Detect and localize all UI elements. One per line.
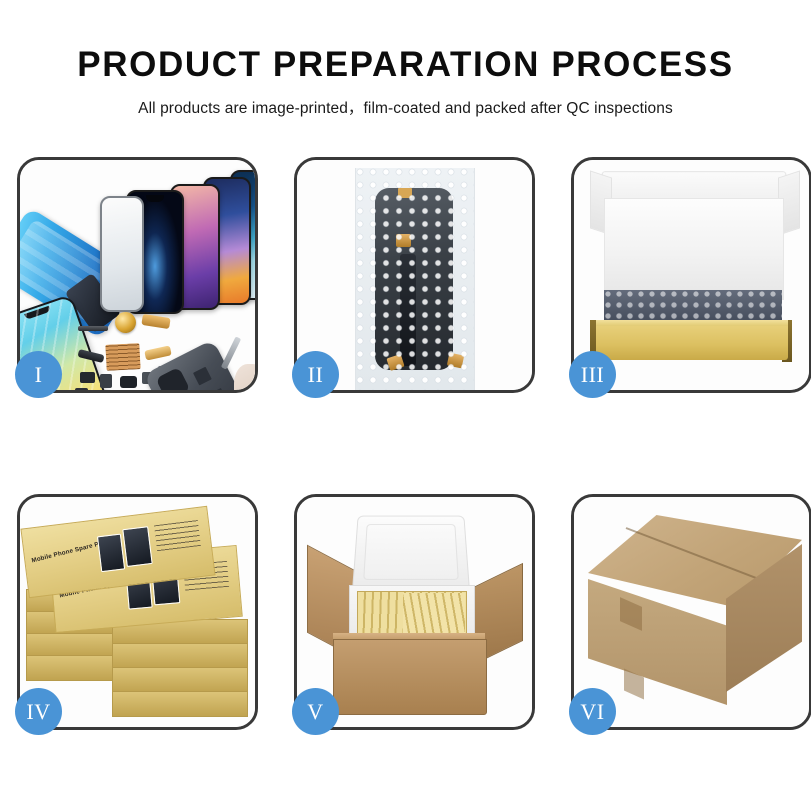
phone-glass-panel	[100, 196, 144, 312]
inner-box-tray-front	[596, 326, 788, 360]
small-chip-part-5	[75, 388, 88, 390]
process-steps-grid: I II III	[17, 157, 795, 747]
process-step-panel-3: III	[571, 157, 811, 393]
small-chip-part-2	[100, 374, 112, 388]
step-badge-5: V	[292, 688, 339, 735]
step-badge-4: IV	[15, 688, 62, 735]
process-step-panel-4: Mobile Phone Spare Parts Mobile Phone Sp…	[17, 494, 258, 730]
flex-cable-part-2	[144, 345, 172, 360]
small-chip-part-1	[80, 372, 95, 383]
box-spec-lines-1	[154, 520, 201, 551]
wrapped-connector-1	[396, 234, 411, 247]
process-step-panel-5: V	[294, 494, 535, 730]
hand-holding-part	[234, 364, 255, 390]
process-step-panel-2: II	[294, 157, 535, 393]
page-header: PRODUCT PREPARATION PROCESS All products…	[0, 0, 811, 118]
box-product-image-1	[97, 534, 125, 573]
box-product-image-2	[122, 526, 152, 567]
small-chip-part-3	[120, 376, 137, 388]
page-subtitle: All products are image-printed，film-coat…	[0, 84, 811, 118]
step-5-image	[297, 497, 532, 727]
carton-front-panel	[333, 639, 487, 715]
bubble-wrap-bag	[355, 168, 475, 390]
gold-component-round	[115, 312, 136, 333]
copper-mesh-part	[105, 343, 140, 371]
stacked-box-edge-7	[112, 667, 248, 693]
flex-cable-part-1	[141, 314, 170, 329]
step-badge-2: II	[292, 351, 339, 398]
step-1-image	[20, 160, 255, 390]
step-3-image	[574, 160, 809, 390]
step-badge-3: III	[569, 351, 616, 398]
step-6-image	[574, 497, 809, 727]
wrapped-flex-cable	[400, 254, 416, 366]
page-title: PRODUCT PREPARATION PROCESS	[0, 0, 811, 84]
wrapped-connector-3	[447, 353, 464, 369]
process-step-panel-6: VI	[571, 494, 811, 730]
step-4-image: Mobile Phone Spare Parts Mobile Phone Sp…	[20, 497, 255, 727]
inner-box-lid-main	[604, 198, 784, 300]
stacked-box-edge-8	[112, 691, 248, 717]
wrapped-tape-tab	[398, 188, 412, 198]
step-2-image	[297, 160, 532, 390]
metal-bracket-part	[78, 326, 108, 331]
stacked-box-edge-6	[112, 643, 248, 669]
step-badge-6: VI	[569, 688, 616, 735]
process-step-panel-1: I	[17, 157, 258, 393]
step-badge-1: I	[15, 351, 62, 398]
foam-cooler-lid	[352, 516, 470, 590]
repair-tweezer-icon	[221, 336, 241, 369]
